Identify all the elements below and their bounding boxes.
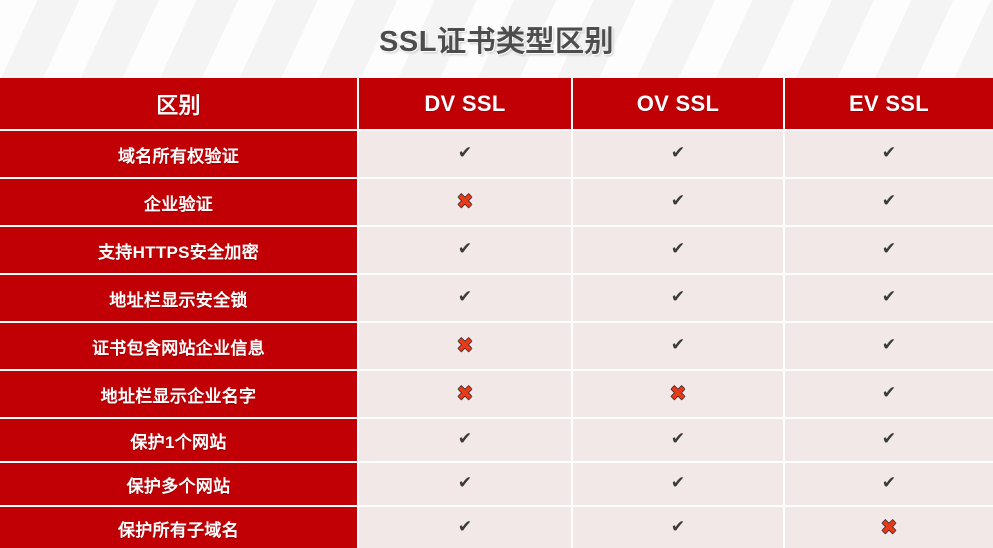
cell-ev-5: ✔	[785, 369, 993, 417]
cell-ov-8: ✔	[573, 505, 785, 548]
table-row: 支持HTTPS安全加密✔✔✔	[0, 225, 993, 273]
check-icon: ✔	[671, 519, 685, 536]
title-band: SSL证书类型区别	[0, 0, 993, 78]
table-row: 地址栏显示企业名字✖✖✔	[0, 369, 993, 417]
table-row: 保护1个网站✔✔✔	[0, 417, 993, 461]
cross-icon: ✖	[670, 383, 687, 403]
cross-icon: ✖	[457, 335, 474, 355]
check-icon: ✔	[671, 337, 685, 354]
table-row: 域名所有权验证✔✔✔	[0, 129, 993, 177]
table-row: 保护多个网站✔✔✔	[0, 461, 993, 505]
cell-ov-7: ✔	[573, 461, 785, 505]
cell-ov-4: ✔	[573, 321, 785, 369]
cross-icon: ✖	[457, 191, 474, 211]
cell-dv-7: ✔	[359, 461, 573, 505]
check-icon: ✔	[882, 193, 896, 210]
table-header: 区别 DV SSL OV SSL EV SSL	[0, 78, 993, 129]
row-label-1: 企业验证	[0, 177, 359, 225]
cell-ov-1: ✔	[573, 177, 785, 225]
cell-dv-8: ✔	[359, 505, 573, 548]
ssl-comparison-table: 区别 DV SSL OV SSL EV SSL 域名所有权验证✔✔✔企业验证✖✔…	[0, 78, 993, 548]
check-icon: ✔	[458, 519, 472, 536]
row-label-7: 保护多个网站	[0, 461, 359, 505]
table-row: 证书包含网站企业信息✖✔✔	[0, 321, 993, 369]
column-header-ev: EV SSL	[785, 78, 993, 129]
row-label-8: 保护所有子域名	[0, 505, 359, 548]
cell-ov-3: ✔	[573, 273, 785, 321]
table-row: 地址栏显示安全锁✔✔✔	[0, 273, 993, 321]
cross-icon: ✖	[457, 383, 474, 403]
page-title: SSL证书类型区别	[379, 18, 614, 60]
cell-ov-2: ✔	[573, 225, 785, 273]
check-icon: ✔	[671, 431, 685, 448]
cell-ev-0: ✔	[785, 129, 993, 177]
check-icon: ✔	[458, 475, 472, 492]
check-icon: ✔	[671, 289, 685, 306]
cell-dv-6: ✔	[359, 417, 573, 461]
check-icon: ✔	[458, 145, 472, 162]
cell-ev-3: ✔	[785, 273, 993, 321]
check-icon: ✔	[458, 431, 472, 448]
row-label-5: 地址栏显示企业名字	[0, 369, 359, 417]
row-label-6: 保护1个网站	[0, 417, 359, 461]
cell-ev-8: ✖	[785, 505, 993, 548]
check-icon: ✔	[671, 193, 685, 210]
check-icon: ✔	[882, 385, 896, 402]
cross-icon: ✖	[881, 517, 898, 537]
cell-dv-2: ✔	[359, 225, 573, 273]
cell-dv-1: ✖	[359, 177, 573, 225]
column-header-ov: OV SSL	[573, 78, 785, 129]
check-icon: ✔	[882, 475, 896, 492]
cell-ev-2: ✔	[785, 225, 993, 273]
cell-ev-6: ✔	[785, 417, 993, 461]
cell-dv-4: ✖	[359, 321, 573, 369]
check-icon: ✔	[882, 289, 896, 306]
cell-ov-6: ✔	[573, 417, 785, 461]
check-icon: ✔	[671, 475, 685, 492]
row-label-4: 证书包含网站企业信息	[0, 321, 359, 369]
check-icon: ✔	[882, 241, 896, 258]
table-row: 企业验证✖✔✔	[0, 177, 993, 225]
row-label-2: 支持HTTPS安全加密	[0, 225, 359, 273]
cell-ov-0: ✔	[573, 129, 785, 177]
check-icon: ✔	[671, 145, 685, 162]
check-icon: ✔	[882, 337, 896, 354]
cell-ev-7: ✔	[785, 461, 993, 505]
header-row: 区别 DV SSL OV SSL EV SSL	[0, 78, 993, 129]
cell-ev-4: ✔	[785, 321, 993, 369]
ssl-comparison-page: SSL证书类型区别 区别 DV SSL OV SSL EV SSL 域名所有权验…	[0, 0, 993, 548]
check-icon: ✔	[671, 241, 685, 258]
check-icon: ✔	[458, 289, 472, 306]
column-header-dv: DV SSL	[359, 78, 573, 129]
cell-dv-5: ✖	[359, 369, 573, 417]
cell-dv-0: ✔	[359, 129, 573, 177]
check-icon: ✔	[882, 431, 896, 448]
column-header-label: 区别	[0, 78, 359, 129]
table-row: 保护所有子域名✔✔✖	[0, 505, 993, 548]
cell-dv-3: ✔	[359, 273, 573, 321]
table-body: 域名所有权验证✔✔✔企业验证✖✔✔支持HTTPS安全加密✔✔✔地址栏显示安全锁✔…	[0, 129, 993, 548]
cell-ov-5: ✖	[573, 369, 785, 417]
row-label-0: 域名所有权验证	[0, 129, 359, 177]
check-icon: ✔	[882, 145, 896, 162]
cell-ev-1: ✔	[785, 177, 993, 225]
check-icon: ✔	[458, 241, 472, 258]
row-label-3: 地址栏显示安全锁	[0, 273, 359, 321]
